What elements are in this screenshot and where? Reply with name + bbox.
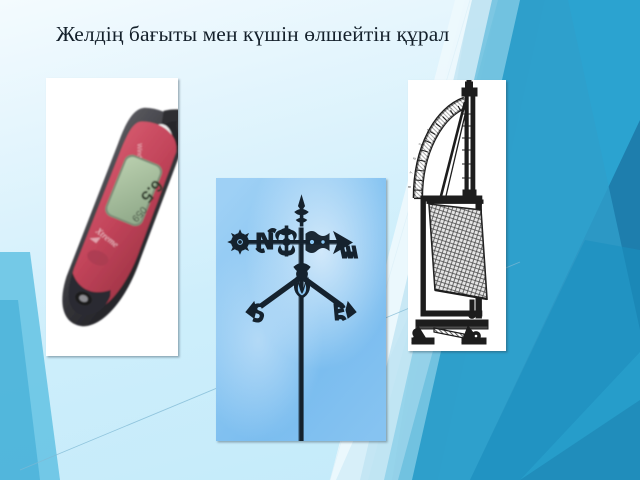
weather-vane-illustration (216, 178, 386, 441)
digital-anemometer-illustration: Windmeter 6.5 059 Xtreme (46, 78, 178, 356)
rosette-ornament (229, 231, 252, 254)
image-digital-anemometer[interactable]: Windmeter 6.5 059 Xtreme (46, 78, 178, 356)
slide-canvas: Желдің бағыты мен күшін өлшейтін құрал (0, 0, 640, 480)
image-wild-pressure-plate-anemometer[interactable]: 8 7 6 5 4 3 2 (408, 80, 506, 351)
compass-letter-w (340, 246, 358, 258)
wild-anemometer-engraving: 8 7 6 5 4 3 2 (408, 80, 506, 351)
svg-text:8: 8 (408, 186, 412, 188)
page-title: Желдің бағыты мен күшін өлшейтін құрал (56, 22, 526, 47)
image-weather-vane[interactable] (216, 178, 386, 441)
